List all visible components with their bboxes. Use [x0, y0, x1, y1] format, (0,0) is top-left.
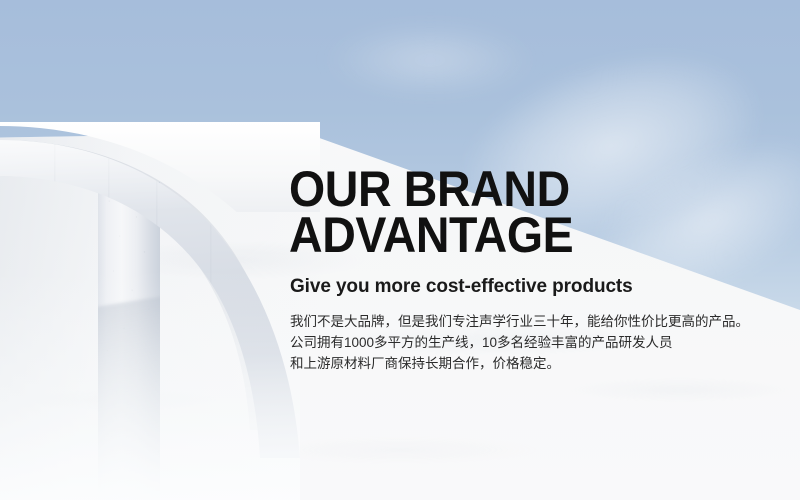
- body-copy-line-3: 和上游原材料厂商保持长期合作，价格稳定。: [290, 353, 759, 374]
- headline: OUR BRAND ADVANTAGE: [289, 166, 726, 258]
- body-copy-line-1: 我们不是大品牌，但是我们专注声学行业三十年，能给你性价比更高的产品。: [290, 311, 759, 332]
- body-copy-line-2: 公司拥有1000多平方的生产线，10多名经验丰富的产品研发人员: [290, 332, 759, 353]
- brand-advantage-banner: OUR BRAND ADVANTAGE Give you more cost-e…: [0, 0, 800, 500]
- subheadline: Give you more cost-effective products: [290, 276, 759, 298]
- cloud-haze-tertiary-icon: [300, 0, 560, 120]
- banner-text-block: OUR BRAND ADVANTAGE Give you more cost-e…: [289, 166, 759, 374]
- body-copy: 我们不是大品牌，但是我们专注声学行业三十年，能给你性价比更高的产品。 公司拥有1…: [290, 311, 759, 374]
